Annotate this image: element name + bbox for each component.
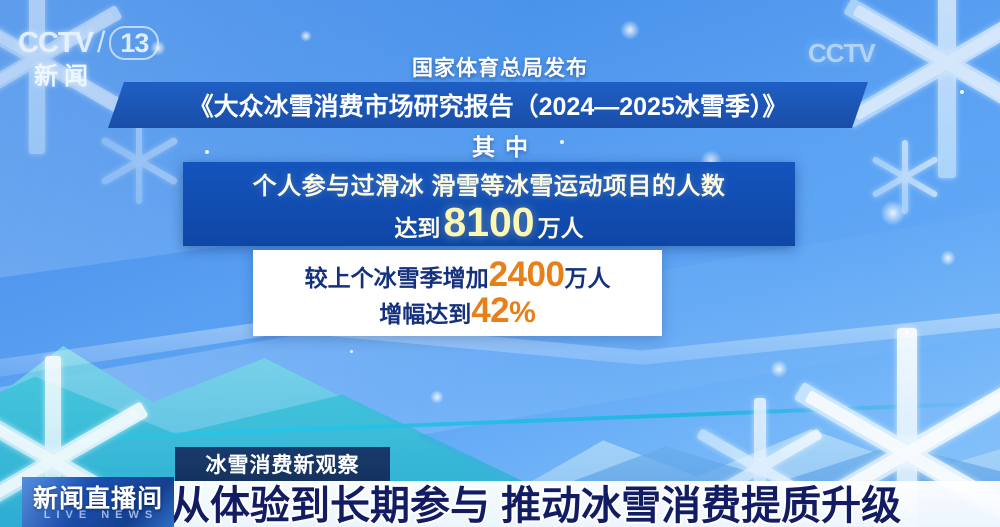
program-name-en: LIVE NEWS [22, 509, 174, 521]
increase-number: 2400 [489, 257, 565, 292]
snow-glow [940, 250, 956, 266]
increase-unit: 万人 [564, 259, 610, 293]
broadcast-screenshot: CCTV / 13 新闻 CCTV 国家体育总局发布 《大众冰雪消费市场研究报告… [0, 0, 1000, 527]
primary-stat-number: 8100 [443, 203, 534, 242]
primary-stat-unit: 万人 [538, 209, 584, 243]
growth-prefix: 增幅达到 [379, 295, 471, 329]
secondary-stat-row-increase: 较上个冰雪季增加 2400 万人 [305, 257, 611, 293]
program-badge: 新闻直播间 LIVE NEWS [22, 477, 174, 527]
snow-glow [620, 20, 640, 40]
primary-stat-description: 个人参与过滑冰 滑雪等冰雪运动项目的人数 [253, 166, 726, 201]
growth-number: 42 [471, 293, 509, 328]
snow-glow [300, 30, 312, 42]
snow-glow [430, 390, 444, 404]
secondary-stat-row-growth: 增幅达到 42 % [379, 293, 536, 330]
report-title: 《大众冰雪消费市场研究报告（2024—2025冰雪季）》 [189, 87, 788, 123]
secondary-stat-card: 较上个冰雪季增加 2400 万人 增幅达到 42 % [253, 250, 662, 336]
primary-stat-value-row: 达到 8100 万人 [394, 203, 583, 243]
report-title-band: 《大众冰雪消费市场研究报告（2024—2025冰雪季）》 [108, 82, 868, 128]
increase-prefix: 较上个冰雪季增加 [305, 259, 489, 293]
report-issuer: 国家体育总局发布 [0, 52, 1000, 82]
snow-speck [350, 350, 353, 353]
lower-third-headline: 从体验到长期参与 推动冰雪消费提质升级 [170, 476, 1000, 527]
primary-stat-card: 个人参与过滑冰 滑雪等冰雪运动项目的人数 达到 8100 万人 [183, 162, 795, 246]
report-connector: 其中 [0, 128, 1000, 162]
growth-unit: % [509, 296, 536, 330]
primary-stat-prefix: 达到 [394, 209, 440, 243]
